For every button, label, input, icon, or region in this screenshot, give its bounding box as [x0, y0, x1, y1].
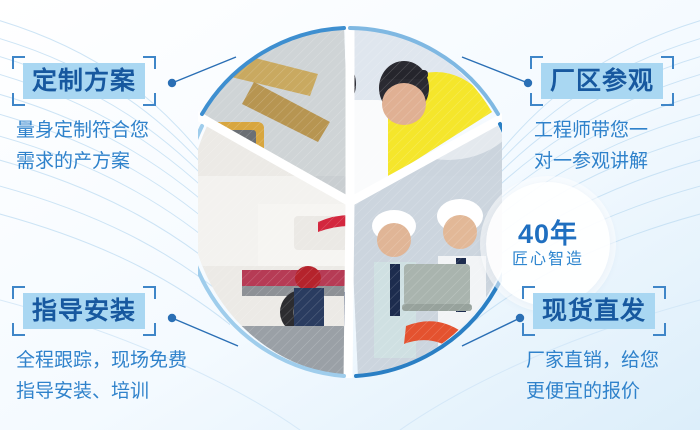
bracket-corner-bottom-left-icon	[522, 323, 535, 336]
feature-description: 厂家直销，给您 更便宜的报价	[522, 346, 700, 408]
feature-tag-wrapper: 指导安装	[12, 286, 156, 336]
promo-banner: 40年 匠心智造 定制方案 量身定制符合您 需求的产方案	[0, 0, 700, 430]
bracket-corner-top-left-icon	[530, 56, 543, 69]
bracket-corner-top-right-icon	[143, 56, 156, 69]
bracket-corner-top-left-icon	[522, 286, 535, 299]
bracket-corner-top-left-icon	[12, 56, 25, 69]
bracket-corner-bottom-right-icon	[143, 323, 156, 336]
bracket-corner-top-right-icon	[653, 286, 666, 299]
feature-description: 全程跟踪，现场免费 指导安装、培训	[12, 346, 222, 408]
bracket-corner-bottom-right-icon	[661, 93, 674, 106]
feature-factory-visit[interactable]: 厂区参观 工程师带您一 对一参观讲解	[530, 56, 700, 178]
bracket-corner-top-left-icon	[12, 286, 25, 299]
feature-installation-guidance[interactable]: 指导安装 全程跟踪，现场免费 指导安装、培训	[12, 286, 222, 408]
feature-custom-solution[interactable]: 定制方案 量身定制符合您 需求的产方案	[12, 56, 222, 178]
connector-line-bottom-right	[462, 318, 520, 346]
feature-tag-wrapper: 定制方案	[12, 56, 156, 106]
bracket-corner-bottom-right-icon	[143, 93, 156, 106]
bracket-corner-bottom-left-icon	[530, 93, 543, 106]
bracket-corner-top-right-icon	[143, 286, 156, 299]
feature-tag-wrapper: 现货直发	[522, 286, 666, 336]
feature-tag-label: 现货直发	[533, 293, 655, 329]
bracket-corner-bottom-left-icon	[12, 323, 25, 336]
feature-tag-label: 厂区参观	[541, 63, 663, 99]
bracket-corner-top-right-icon	[661, 56, 674, 69]
feature-description: 量身定制符合您 需求的产方案	[12, 116, 222, 178]
bracket-corner-bottom-right-icon	[653, 323, 666, 336]
feature-tag-wrapper: 厂区参观	[530, 56, 674, 106]
feature-tag-label: 定制方案	[23, 63, 145, 99]
feature-tag-label: 指导安装	[23, 293, 145, 329]
connector-line-top-right	[462, 57, 528, 83]
feature-description: 工程师带您一 对一参观讲解	[530, 116, 700, 178]
feature-in-stock-shipping[interactable]: 现货直发 厂家直销，给您 更便宜的报价	[522, 286, 700, 408]
bracket-corner-bottom-left-icon	[12, 93, 25, 106]
